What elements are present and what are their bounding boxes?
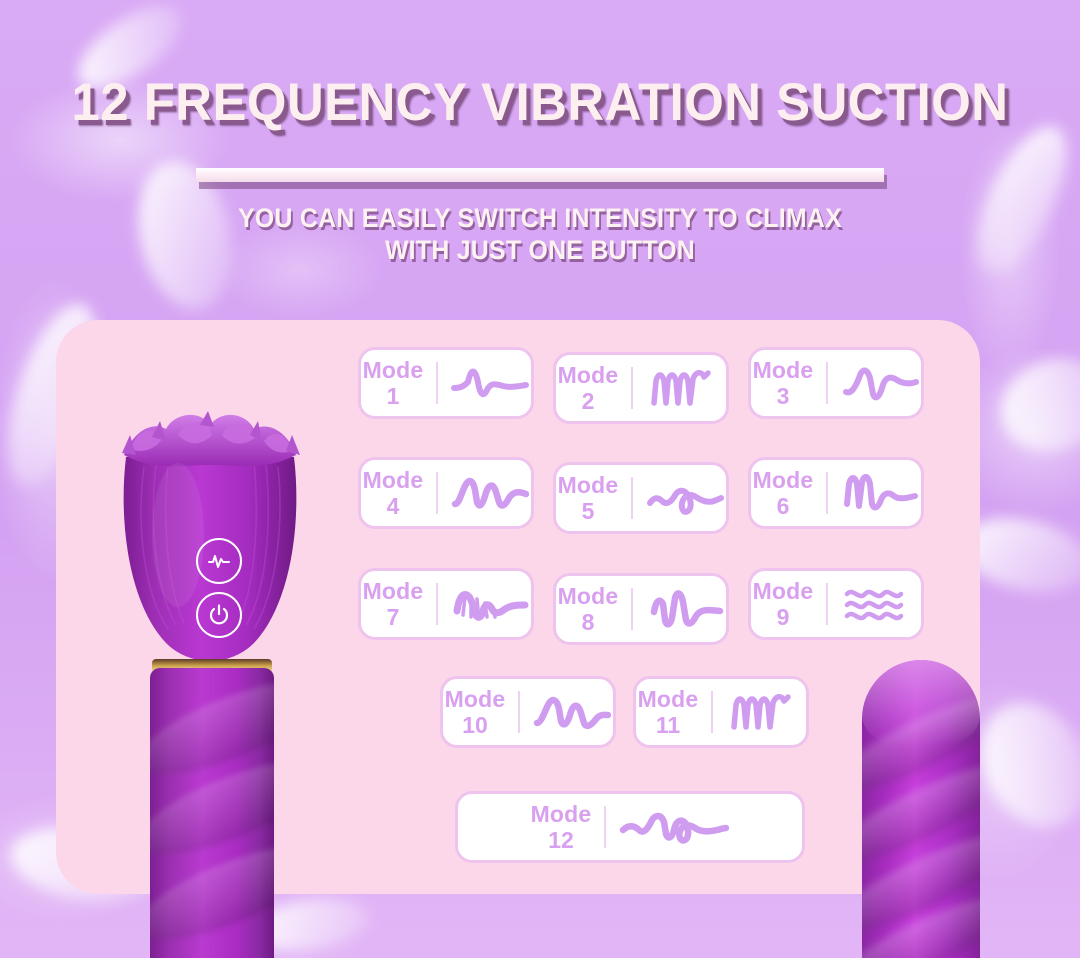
mode-label: Mode 7: [363, 580, 424, 629]
wand-product-tip: [862, 660, 980, 958]
card-separator: [604, 806, 606, 848]
mode-label: Mode 1: [363, 359, 424, 408]
page-title: 12 FREQUENCY VIBRATION SUCTION: [22, 72, 1059, 133]
mode-label: Mode 3: [753, 359, 814, 408]
mode-card-4[interactable]: Mode 4: [358, 457, 534, 529]
mode-card-10[interactable]: Mode 10: [440, 676, 616, 748]
card-separator: [631, 477, 633, 519]
mode-card-8[interactable]: Mode 8: [553, 573, 729, 645]
waveform-icon-s-curve-pulse: [841, 360, 919, 406]
waveform-icon-dense-burst-cluster: [451, 581, 529, 627]
card-separator: [826, 472, 828, 514]
card-separator: [518, 691, 520, 733]
mode-card-2[interactable]: Mode 2: [553, 352, 729, 424]
subtitle-line-2: WITH JUST ONE BUTTON: [385, 235, 695, 265]
waveform-icon-long-wavy-snake: [619, 804, 729, 850]
card-separator: [436, 472, 438, 514]
waveform-icon-low-rolling-wave: [646, 475, 724, 521]
power-button[interactable]: [196, 592, 242, 638]
mode-card-9[interactable]: Mode 9: [748, 568, 924, 640]
mode-card-6[interactable]: Mode 6: [748, 457, 924, 529]
mode-label: Mode 4: [363, 469, 424, 518]
mode-card-1[interactable]: Mode 1: [358, 347, 534, 419]
waveform-icon-double-tall-spike: [646, 586, 724, 632]
marble-wisp: [988, 344, 1080, 466]
mode-label: Mode 12: [531, 803, 592, 852]
mode-card-7[interactable]: Mode 7: [358, 568, 534, 640]
title-divider: [196, 168, 884, 182]
card-separator: [631, 367, 633, 409]
power-icon: [207, 603, 231, 627]
mode-label: Mode 8: [558, 585, 619, 634]
card-separator: [711, 691, 713, 733]
waveform-icon-single-spike-wave: [451, 360, 529, 406]
mode-label: Mode 2: [558, 364, 619, 413]
card-separator: [631, 588, 633, 630]
mode-card-3[interactable]: Mode 3: [748, 347, 924, 419]
mode-card-11[interactable]: Mode 11: [633, 676, 809, 748]
card-separator: [826, 583, 828, 625]
card-separator: [436, 583, 438, 625]
mode-card-12[interactable]: Mode 12: [455, 791, 805, 863]
mode-card-5[interactable]: Mode 5: [553, 462, 729, 534]
card-separator: [826, 362, 828, 404]
waveform-icon-triple-comb-peaks: [726, 689, 804, 735]
mode-label: Mode 10: [445, 688, 506, 737]
mode-label: Mode 11: [638, 688, 699, 737]
waveform-icon-triple-rounded-peaks: [451, 470, 529, 516]
waveform-icon-sharp-spike-ripple: [841, 470, 919, 516]
mode-label: Mode 9: [753, 580, 814, 629]
waveform-icon-double-peak-tail: [533, 689, 611, 735]
mode-label: Mode 6: [753, 469, 814, 518]
page-subtitle: YOU CAN EASILY SWITCH INTENSITY TO CLIMA…: [43, 202, 1037, 266]
mode-pulse-button[interactable]: [196, 538, 242, 584]
subtitle-line-1: YOU CAN EASILY SWITCH INTENSITY TO CLIMA…: [238, 203, 842, 233]
product-shaft: [150, 668, 274, 958]
pulse-heartbeat-icon: [207, 549, 231, 573]
waveform-icon-triple-comb-peaks: [646, 365, 724, 411]
mode-label: Mode 5: [558, 474, 619, 523]
card-separator: [436, 362, 438, 404]
infographic-stage: 12 FREQUENCY VIBRATION SUCTION YOU CAN E…: [0, 0, 1080, 958]
waveform-icon-three-ripple-lines: [841, 581, 919, 627]
